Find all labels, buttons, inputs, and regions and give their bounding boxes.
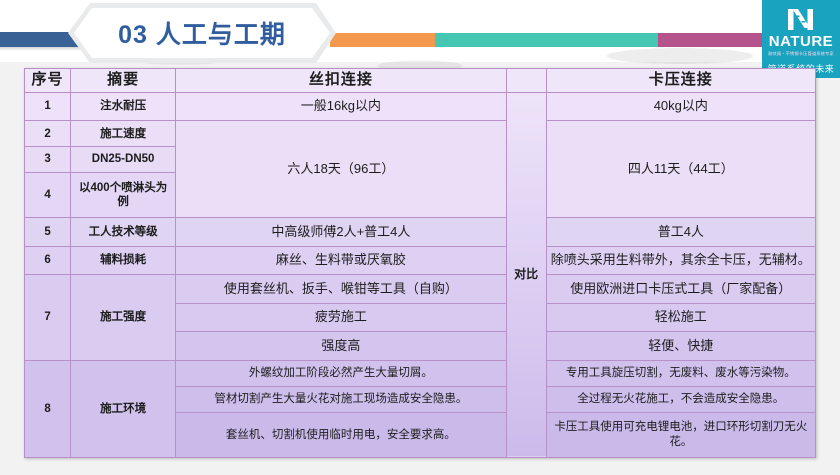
row-threaded-value: 一般16kg以内 bbox=[176, 92, 506, 120]
logo-n-mark bbox=[786, 6, 816, 32]
logo-wordmark: NATURE bbox=[769, 34, 833, 49]
row-press-value: 普工4人 bbox=[546, 218, 815, 246]
row-summary: 施工速度 bbox=[71, 121, 176, 147]
header-summary: 摘要 bbox=[71, 69, 176, 93]
table-row: 2 施工速度 六人18天（96工） 四人11天（44工） bbox=[25, 121, 816, 147]
table-row: 8 施工环境 外螺纹加工阶段必然产生大量切屑。 专用工具旋压切割，无废料、废水等… bbox=[25, 360, 816, 386]
row-threaded-value: 套丝机、切割机使用临时用电，安全要求高。 bbox=[176, 412, 506, 457]
row-no: 3 bbox=[25, 147, 71, 173]
row-summary: 施工强度 bbox=[71, 275, 176, 360]
header-no: 序号 bbox=[25, 69, 71, 93]
table-row: 1 注水耐压 一般16kg以内 对比 40kg以内 bbox=[25, 92, 816, 120]
row-threaded-value: 麻丝、生料带或厌氧胶 bbox=[176, 246, 506, 274]
row-summary: 注水耐压 bbox=[71, 92, 176, 120]
colorbar-teal-segment bbox=[435, 33, 658, 47]
row-press-value: 轻便、快捷 bbox=[546, 332, 815, 360]
row-threaded-value: 外螺纹加工阶段必然产生大量切屑。 bbox=[176, 360, 506, 386]
colorbar-orange-segment bbox=[330, 33, 435, 47]
nature-logo: NATURE 耐呋福・不锈钢卡压管道系统专家 管道系统的未来 bbox=[762, 0, 840, 78]
row-threaded-value: 强度高 bbox=[176, 332, 506, 360]
row-threaded-value: 使用套丝机、扳手、喉钳等工具（自购） bbox=[176, 275, 506, 303]
table-header-row: 序号 摘要 丝扣连接 卡压连接 bbox=[25, 69, 816, 93]
row-no: 5 bbox=[25, 218, 71, 246]
comparison-table: 序号 摘要 丝扣连接 卡压连接 1 注水耐压 一般16kg以内 对比 40kg以… bbox=[24, 68, 816, 458]
row-no: 2 bbox=[25, 121, 71, 147]
row-press-value: 四人11天（44工） bbox=[546, 121, 815, 218]
row-summary: 施工环境 bbox=[71, 360, 176, 457]
logo-subtitle: 耐呋福・不锈钢卡压管道系统专家 bbox=[768, 51, 834, 57]
row-summary: DN25-DN50 bbox=[71, 147, 176, 173]
row-summary: 以400个喷淋头为例 bbox=[71, 173, 176, 218]
colorbar-magenta-segment bbox=[658, 33, 762, 47]
section-title-hexagon: 03 人工与工期 bbox=[68, 3, 336, 63]
row-no: 7 bbox=[25, 275, 71, 360]
row-press-value: 40kg以内 bbox=[546, 92, 815, 120]
row-summary: 辅料损耗 bbox=[71, 246, 176, 274]
row-threaded-value: 管材切割产生大量火花对施工现场造成安全隐患。 bbox=[176, 386, 506, 412]
row-press-value: 全过程无火花施工，不会造成安全隐患。 bbox=[546, 386, 815, 412]
row-press-value: 专用工具旋压切割，无废料、废水等污染物。 bbox=[546, 360, 815, 386]
row-no: 6 bbox=[25, 246, 71, 274]
row-no: 4 bbox=[25, 173, 71, 218]
table-row: 6 辅料损耗 麻丝、生料带或厌氧胶 除喷头采用生料带外，其余全卡压，无辅材。 bbox=[25, 246, 816, 274]
table-row: 5 工人技术等级 中高级师傅2人+普工4人 普工4人 bbox=[25, 218, 816, 246]
row-press-value: 使用欧洲进口卡压式工具（厂家配备） bbox=[546, 275, 815, 303]
comparison-table-container: 序号 摘要 丝扣连接 卡压连接 1 注水耐压 一般16kg以内 对比 40kg以… bbox=[24, 68, 816, 458]
compare-column-label: 对比 bbox=[506, 92, 546, 457]
row-press-value: 除喷头采用生料带外，其余全卡压，无辅材。 bbox=[546, 246, 815, 274]
row-no: 1 bbox=[25, 92, 71, 120]
row-threaded-value: 疲劳施工 bbox=[176, 303, 506, 331]
section-title-text: 03 人工与工期 bbox=[68, 3, 336, 63]
row-press-value: 轻松施工 bbox=[546, 303, 815, 331]
header-press: 卡压连接 bbox=[546, 69, 815, 93]
row-no: 8 bbox=[25, 360, 71, 457]
header-threaded: 丝扣连接 bbox=[176, 69, 506, 93]
row-press-value: 卡压工具使用可充电锂电池，进口环形切割刀无火花。 bbox=[546, 412, 815, 457]
row-threaded-value: 六人18天（96工） bbox=[176, 121, 506, 218]
slide-header: 03 人工与工期 bbox=[0, 0, 840, 62]
header-compare-spacer bbox=[506, 69, 546, 93]
row-threaded-value: 中高级师傅2人+普工4人 bbox=[176, 218, 506, 246]
table-row: 7 施工强度 使用套丝机、扳手、喉钳等工具（自购） 使用欧洲进口卡压式工具（厂家… bbox=[25, 275, 816, 303]
row-summary: 工人技术等级 bbox=[71, 218, 176, 246]
